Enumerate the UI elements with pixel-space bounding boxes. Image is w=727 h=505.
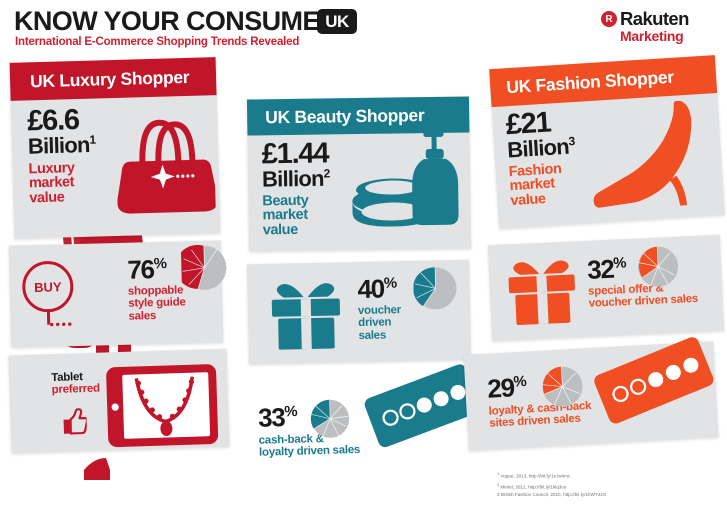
fashion-stat-card-loyalty: 29% loyalty & cash-back sites driven sal… [464,341,719,451]
page-title: KNOW YOUR CONSUMER [14,6,339,37]
fashion-offer-pie-icon [636,245,680,289]
page-subtitle: International E-Commerce Shopping Trends… [15,36,299,48]
tablet-necklace-icon [105,363,220,448]
footnote-item: 1 Vogue, 2013, http://bit.ly/1s.lw4mc [497,470,606,481]
luxury-heading-label: UK Luxury Shopper [30,66,190,91]
luxury-footnote-ref: 1 [89,133,95,147]
handbag-icon [115,105,216,220]
logo-subbrand: Marketing [620,28,689,44]
rakuten-r-icon: R [601,11,617,27]
beauty-stat-card-cashback: 33% cash-back & loyalty driven sales [243,369,473,459]
fashion-value-unit: Billion3 [507,135,576,162]
buy-pin-icon: BUY [17,258,79,337]
svg-text:BUY: BUY [34,279,62,295]
country-badge: UK [317,9,357,34]
luxury-value-label: Luxury market value [28,160,97,206]
rakuten-marketing-logo: R Rakuten Marketing [601,8,689,44]
beauty-heading-label: UK Beauty Shopper [265,105,425,128]
luxury-pie-chart-icon [181,244,228,291]
gift-box-icon [267,276,345,352]
footnotes: 1 Vogue, 2013, http://bit.ly/1s.lw4mc 2 … [497,470,606,499]
beauty-voucher-sublabel: voucher driven sales [358,304,402,342]
beauty-voucher-pie-icon [413,266,458,311]
footnote-item: 3 British Fashion Council, 2010, http://… [497,491,606,499]
infographic-canvas: KNOW YOUR CONSUMER UK International E-Co… [0,0,727,505]
loyalty-card-icon [580,325,725,433]
fashion-heading-label: UK Fashion Shopper [506,66,675,97]
footnote-item: 2 Mintel, 2012, http://bit.ly/1klq3ue [497,481,606,492]
luxury-value: £6.6 [27,107,95,136]
beauty-value-card: UK Beauty Shopper £1.44 Billion2 Beauty … [247,96,471,251]
luxury-stat-percent: 76% [127,255,185,282]
beauty-voucher-percent: 40% [357,275,401,302]
fashion-loyalty-pie-icon [540,364,584,408]
fashion-footnote-ref: 3 [568,134,575,148]
luxury-value-card: UK Luxury Shopper £6.6 Billion1 Luxury m… [10,57,221,239]
beauty-footnote-ref: 2 [324,167,330,181]
logo-wordmark: Rakuten [620,8,689,30]
cosmetics-icon [347,127,467,247]
shoe-shadow-icon [82,452,122,482]
beauty-stat-card-voucher: 40% voucher driven sales [247,260,471,365]
beauty-value-unit: Billion2 [262,168,330,191]
luxury-stat-sublabel: shoppable style guide sales [128,284,186,323]
beauty-value-label: Beauty market value [262,193,330,238]
gift-box-icon [504,253,579,326]
beauty-value: £1.44 [262,140,330,168]
luxury-tablet-card: Tablet preferred [9,349,230,454]
fashion-stat-card-offer: 32% special offer & voucher driven sales [488,235,724,341]
fashion-value-card: UK Fashion Shopper £21 Billion3 Fashion … [489,55,725,229]
thumbs-up-icon [60,408,87,435]
high-heel-shoe-icon [586,95,717,217]
luxury-stat-card: BUY 76% shoppable style guide sales [9,240,223,347]
luxury-value-unit: Billion1 [28,134,96,158]
fashion-value-label: Fashion market value [508,161,578,209]
tablet-preferred-label: Tablet preferred [51,371,100,397]
beauty-cashback-pie-icon [310,398,351,439]
luxury-heading-band: UK Luxury Shopper [10,57,217,101]
